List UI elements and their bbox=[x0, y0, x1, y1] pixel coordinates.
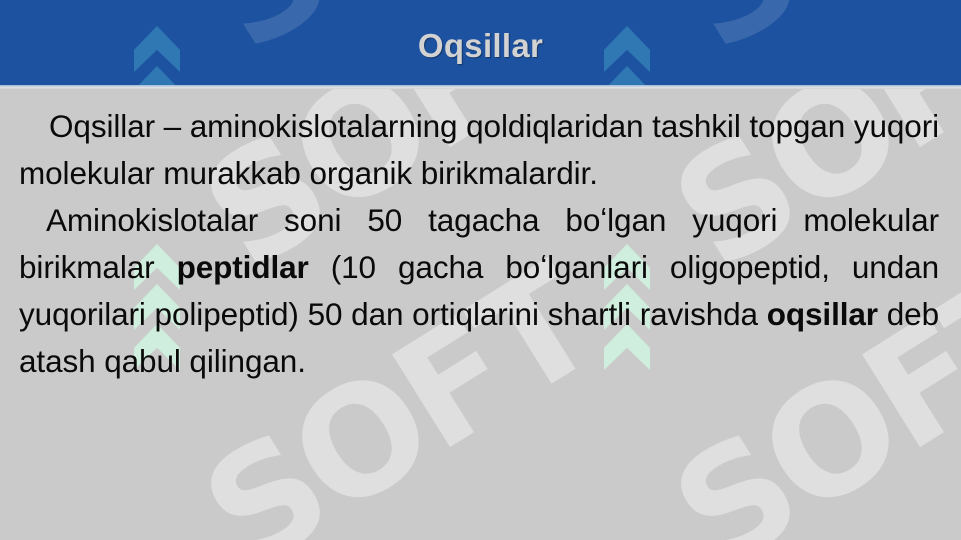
emphasised-term: oqsillar bbox=[767, 296, 878, 332]
slide: SOFTSOFTSOFTSOFTSOFTSOFT SOFTSOFTSOFT Oq… bbox=[0, 0, 961, 540]
header-inner: Oqsillar bbox=[0, 0, 961, 85]
slide-header: SOFTSOFTSOFT Oqsillar bbox=[0, 0, 961, 85]
paragraph-definition: Oqsillar – aminokislotalarning qoldiqlar… bbox=[19, 103, 939, 197]
slide-body: Oqsillar – aminokislotalarning qoldiqlar… bbox=[0, 89, 961, 540]
header-divider bbox=[0, 85, 961, 89]
emphasised-term: peptidlar bbox=[177, 249, 309, 285]
page-title: Oqsillar bbox=[418, 21, 543, 65]
paragraph-peptides: Aminokislotalar soni 50 tagacha boʻlgan … bbox=[19, 197, 939, 385]
text-run: Oqsillar – aminokislotalarning qoldiqlar… bbox=[19, 108, 939, 191]
